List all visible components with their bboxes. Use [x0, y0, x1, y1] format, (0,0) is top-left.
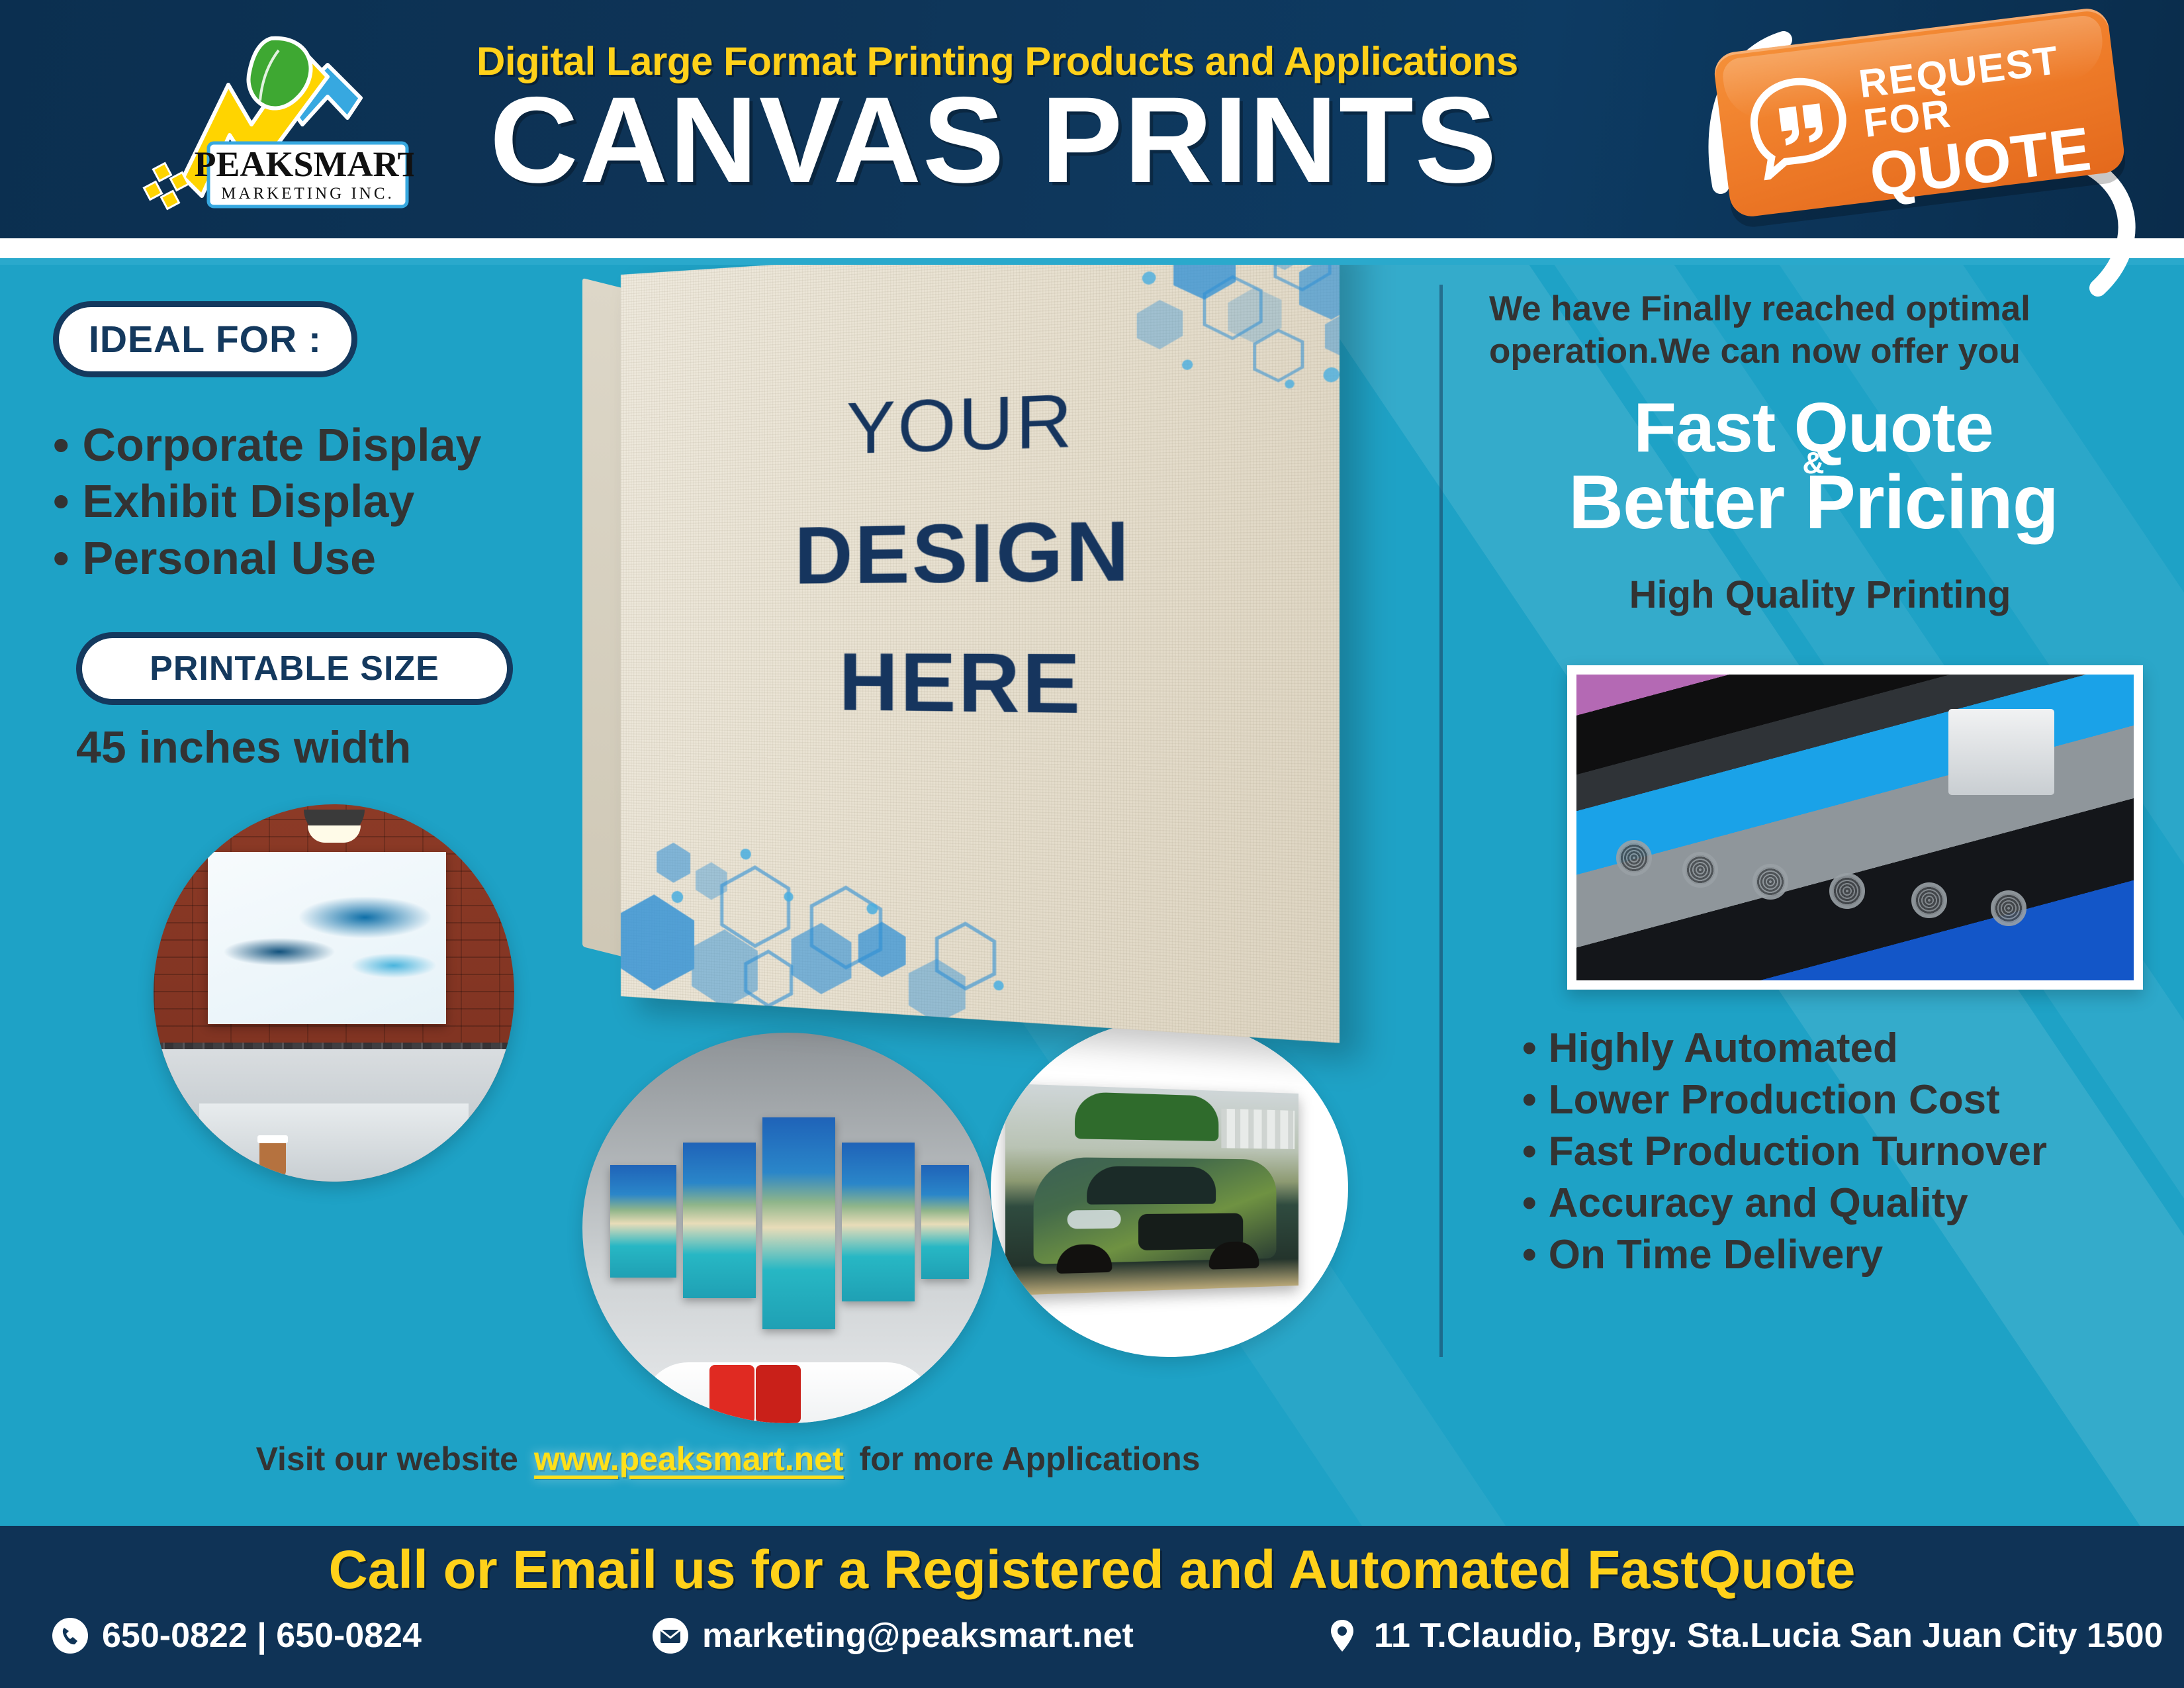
canvas-panel — [762, 1117, 835, 1329]
coffee-cup — [259, 1139, 286, 1178]
page-title: CANVAS PRINTS — [490, 79, 1562, 202]
visit-website-line: Visit our website www.peaksmart.net for … — [0, 1440, 1456, 1478]
office-desk — [154, 1049, 514, 1182]
cooling-fan — [1682, 852, 1718, 888]
hexagon-pattern-bottom-left — [621, 764, 1090, 1043]
cooling-fan — [1616, 840, 1652, 876]
main-content-area: IDEAL FOR : Corporate Display Exhibit Di… — [0, 265, 2184, 1526]
car-canvas-print — [1005, 1084, 1298, 1295]
phone-icon — [52, 1617, 89, 1654]
red-cushion — [756, 1365, 801, 1423]
list-item: Fast Production Turnover — [1522, 1126, 2184, 1178]
abstract-art-canvas — [208, 852, 446, 1024]
printer-photo-frame — [1567, 665, 2143, 990]
column-divider — [1439, 285, 1443, 1357]
sports-car — [1034, 1157, 1277, 1264]
mockup-line-3: HERE — [621, 635, 1340, 737]
printable-size-label: PRINTABLE SIZE — [76, 632, 513, 705]
beach-multipanel-photo — [582, 1033, 993, 1423]
list-item: Personal Use — [53, 530, 609, 586]
map-pin-icon — [1324, 1617, 1361, 1654]
print-head-carriage — [1948, 709, 2054, 795]
hedge — [1075, 1092, 1218, 1141]
logo-brand-text: PEAKSMART — [194, 144, 414, 184]
page-footer: Call or Email us for a Registered and Au… — [0, 1526, 2184, 1688]
logo-tagline-text: MARKETING INC. — [221, 185, 394, 203]
canvas-product-mockup: YOUR DESIGN HERE — [569, 265, 1396, 1046]
footer-address: 11 T.Claudio, Brgy. Sta.Lucia San Juan C… — [1324, 1616, 2163, 1656]
canvas-panel — [610, 1165, 676, 1278]
cooling-fan — [1911, 882, 1947, 918]
header-separator-strip — [0, 238, 2184, 258]
footer-email-text: marketing@peaksmart.net — [702, 1616, 1134, 1656]
footer-headline: Call or Email us for a Registered and Au… — [0, 1539, 2184, 1601]
cooling-fan — [1991, 890, 2026, 926]
canvas-front-face: YOUR DESIGN HERE — [621, 265, 1340, 1043]
mockup-text-block: YOUR DESIGN HERE — [621, 366, 1340, 737]
website-url-link[interactable]: www.peaksmart.net — [534, 1440, 844, 1477]
car-canvas-photo — [991, 1019, 1348, 1357]
wheel — [1056, 1244, 1112, 1274]
list-item: Lower Production Cost — [1522, 1074, 2184, 1126]
cooling-fan — [1829, 873, 1865, 909]
office-canvas-photo — [154, 804, 514, 1182]
red-cushion — [709, 1365, 754, 1423]
envelope-icon — [652, 1617, 689, 1654]
headlight — [1068, 1210, 1121, 1229]
printable-size-value: 45 inches width — [76, 722, 606, 773]
headline-ampersand: & — [1802, 448, 1824, 478]
header-accent-line — [0, 258, 2184, 265]
peaksmart-logo: PEAKSMART MARKETING INC. — [129, 19, 414, 217]
mockup-line-1: YOUR — [621, 366, 1340, 477]
ceiling-lamp — [304, 810, 365, 836]
canvas-panel — [921, 1165, 969, 1279]
building — [1221, 1109, 1295, 1149]
meeting-table — [199, 1103, 469, 1182]
list-item: Corporate Display — [53, 417, 609, 473]
large-format-printer-photo — [1576, 675, 2134, 980]
benefits-list: Highly Automated Lower Production Cost F… — [1522, 1023, 2184, 1282]
footer-email[interactable]: marketing@peaksmart.net — [652, 1616, 1134, 1656]
windshield — [1087, 1166, 1216, 1205]
cooling-fan — [1752, 864, 1788, 900]
list-item: Highly Automated — [1522, 1023, 2184, 1074]
list-item: Exhibit Display — [53, 473, 609, 530]
mockup-line-2: DESIGN — [621, 498, 1340, 604]
high-quality-subhead: High Quality Printing — [1489, 573, 2151, 617]
canvas-panel — [683, 1143, 756, 1298]
speech-bubble-quote-icon — [1744, 71, 1854, 181]
list-item: On Time Delivery — [1522, 1229, 2184, 1281]
visit-prefix: Visit our website — [256, 1440, 518, 1477]
footer-phone[interactable]: 650-0822 | 650-0824 — [52, 1616, 422, 1656]
footer-contact-row: 650-0822 | 650-0824 marketing@peaksmart.… — [0, 1616, 2184, 1675]
headline-block: Fast Quote & Better Pricing — [1463, 394, 2164, 540]
ideal-for-list: Corporate Display Exhibit Display Person… — [53, 417, 609, 586]
visit-suffix: for more Applications — [860, 1440, 1201, 1477]
canvas-panel — [842, 1143, 915, 1301]
list-item: Accuracy and Quality — [1522, 1178, 2184, 1229]
footer-phone-text: 650-0822 | 650-0824 — [102, 1616, 422, 1656]
footer-address-text: 11 T.Claudio, Brgy. Sta.Lucia San Juan C… — [1374, 1616, 2163, 1656]
ideal-for-label: IDEAL FOR : — [53, 301, 357, 377]
